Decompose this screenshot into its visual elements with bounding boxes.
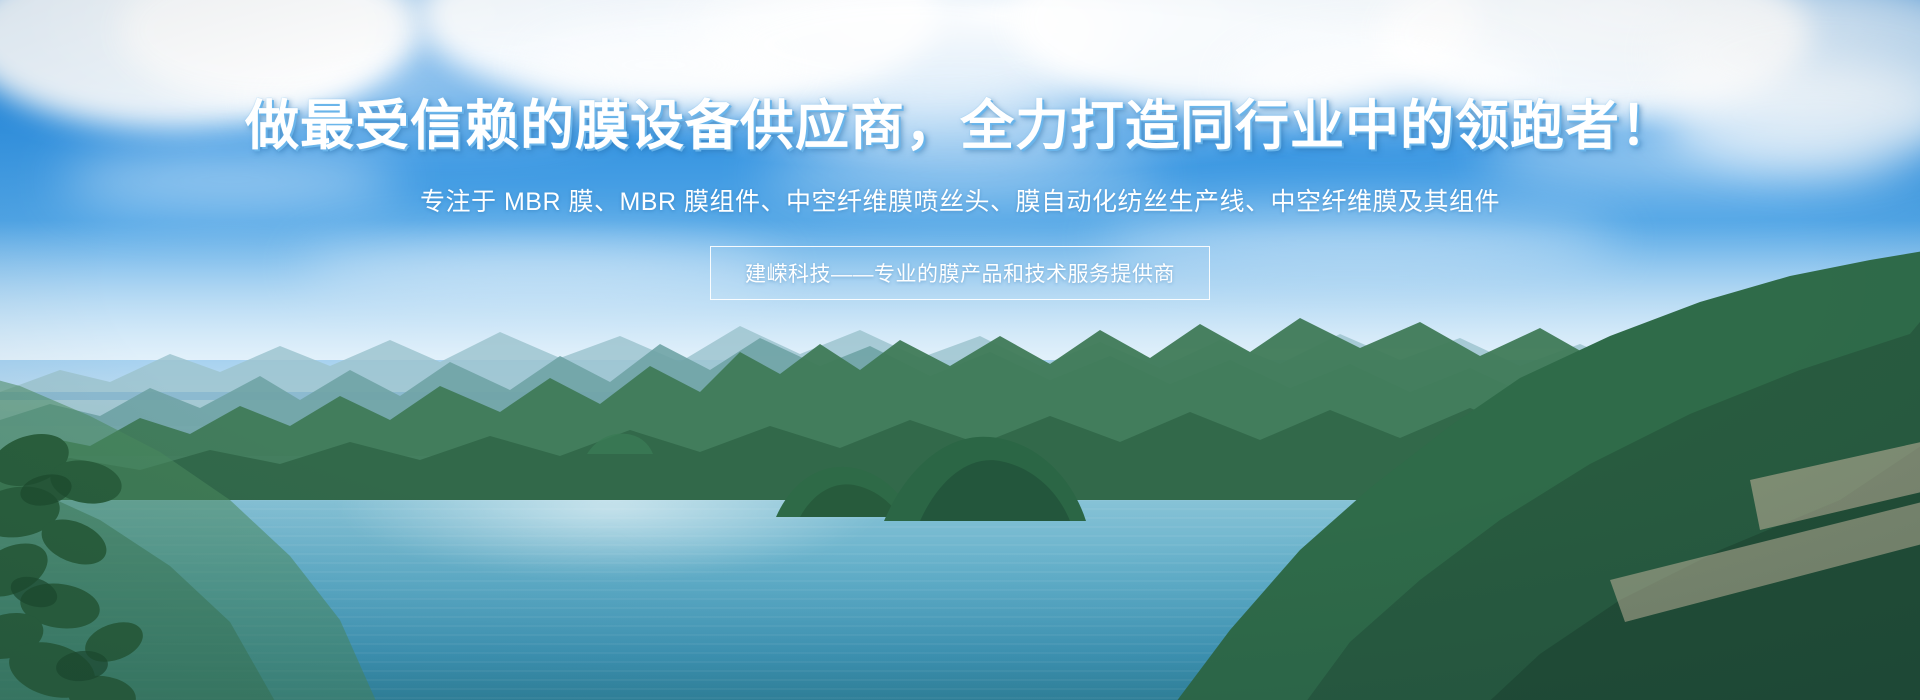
banner-subheadline: 专注于 MBR 膜、MBR 膜组件、中空纤维膜喷丝头、膜自动化纺丝生产线、中空纤…: [0, 182, 1920, 218]
banner-headline: 做最受信赖的膜设备供应商，全力打造同行业中的领跑者！: [0, 96, 1920, 156]
foreground-foliage: [0, 430, 220, 700]
foreground-hill-right: [1050, 250, 1920, 700]
banner-tagline: 建嵘科技——专业的膜产品和技术服务提供商: [710, 246, 1210, 300]
lake-island: [585, 430, 655, 456]
lake-island: [880, 425, 1090, 530]
banner-copy: 做最受信赖的膜设备供应商，全力打造同行业中的领跑者！ 专注于 MBR 膜、MBR…: [0, 0, 1920, 300]
hero-banner: 做最受信赖的膜设备供应商，全力打造同行业中的领跑者！ 专注于 MBR 膜、MBR…: [0, 0, 1920, 700]
banner-tagline-wrap: 建嵘科技——专业的膜产品和技术服务提供商: [0, 246, 1920, 300]
